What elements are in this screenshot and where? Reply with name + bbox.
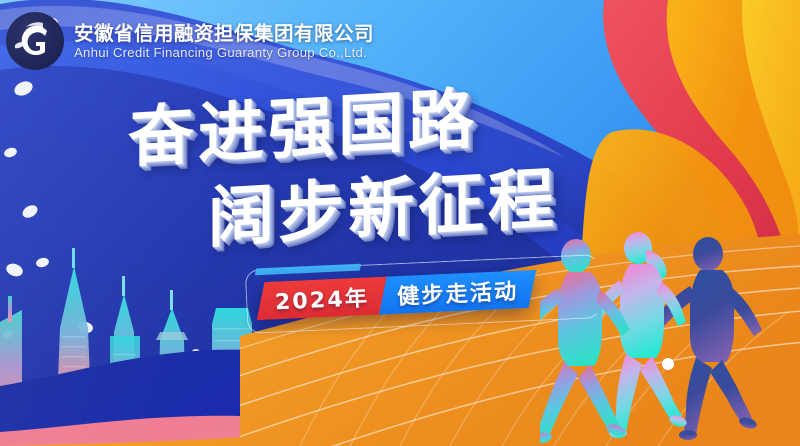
year-label: 2024年: [274, 280, 370, 316]
organization-name-block: 安徽省信用融资担保集团有限公司 Anhui Credit Financing G…: [74, 22, 374, 60]
stylized-g-monogram-icon: [6, 12, 64, 70]
event-label: 健步走活动: [396, 274, 519, 311]
promotional-banner: 2024年 健步走活动 奋进强国路 阔步新征程 安徽省信用融资担保集团有限公司 …: [0, 0, 800, 446]
org-name-en: Anhui Credit Financing Guaranty Group Co…: [74, 46, 374, 60]
runner-group: [540, 216, 800, 446]
year-badge: 2024年: [257, 277, 387, 320]
organization-logo-block: 安徽省信用融资担保集团有限公司 Anhui Credit Financing G…: [6, 12, 374, 70]
event-badge: 健步走活动: [379, 270, 536, 315]
org-name-cn: 安徽省信用融资担保集团有限公司: [74, 24, 374, 44]
